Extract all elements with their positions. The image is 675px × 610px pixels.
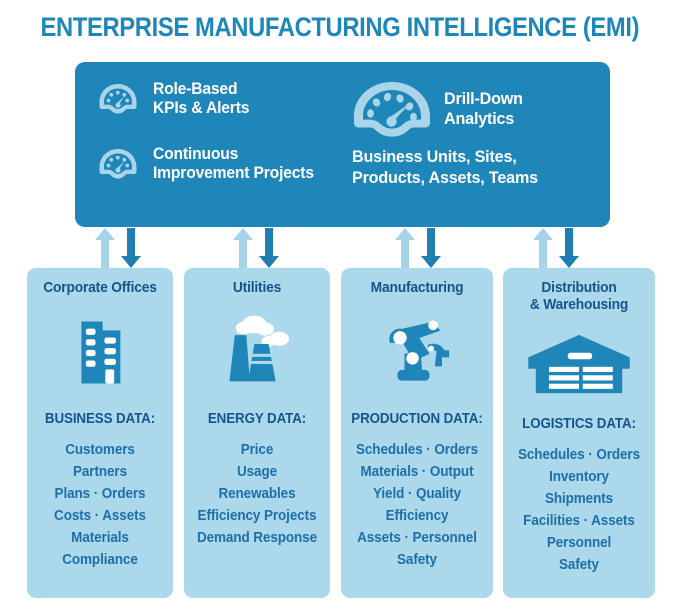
card-title: Distribution & Warehousing: [509, 280, 649, 314]
list-item: Demand Response: [189, 527, 325, 549]
gauge-icon: [97, 81, 139, 117]
scope-line-1: Business Units, Sites,: [352, 147, 517, 166]
emi-capabilities-panel: Role-Based KPIs & Alerts Continuous: [75, 62, 610, 227]
drill-down-label: Drill-Down Analytics: [444, 89, 523, 129]
list-item: Price: [189, 439, 325, 461]
warehouse-icon: [503, 328, 655, 400]
card-data-list: Price Usage Renewables Efficiency Projec…: [184, 439, 330, 549]
scope-line-2: Products, Assets, Teams: [352, 168, 538, 187]
card-data-list: Schedules · Orders Materials · Output Yi…: [341, 439, 493, 571]
list-item: Safety: [508, 554, 649, 576]
gauge-icon: [350, 78, 434, 140]
robot-arm-icon: [341, 303, 493, 395]
arrow-pair-utilities: [232, 228, 284, 268]
list-item: Partners: [32, 461, 168, 483]
card-data-label: LOGISTICS DATA:: [509, 416, 649, 432]
card-title-line-1: Manufacturing: [371, 279, 464, 296]
power-plant-icon: [184, 303, 330, 395]
card-corporate-offices[interactable]: Corporate Offices BUSINESS DATA: Custome…: [27, 268, 173, 598]
feature-line-2: KPIs & Alerts: [153, 99, 249, 117]
list-item: Customers: [32, 439, 168, 461]
arrow-pair-manufacturing: [394, 228, 446, 268]
card-data-list: Schedules · Orders Inventory Shipments F…: [503, 444, 655, 576]
analytics-scope-label: Business Units, Sites, Products, Assets,…: [352, 146, 586, 189]
list-item: Schedules · Orders: [346, 439, 487, 461]
panel-left-column: Role-Based KPIs & Alerts Continuous: [97, 80, 352, 204]
list-item: Plans · Orders: [32, 483, 168, 505]
feature-drill-down-analytics: Drill-Down Analytics: [350, 78, 598, 140]
panel-right-column: Drill-Down Analytics Business Units, Sit…: [350, 78, 598, 189]
arrow-down-icon: [258, 228, 280, 268]
page-title: ENTERPRISE MANUFACTURING INTELLIGENCE (E…: [41, 12, 635, 43]
list-item: Inventory: [508, 466, 649, 488]
list-item: Compliance: [32, 549, 168, 571]
card-data-label: PRODUCTION DATA:: [347, 411, 487, 427]
arrow-down-icon: [120, 228, 142, 268]
card-data-list: Customers Partners Plans · Orders Costs …: [27, 439, 173, 571]
office-building-icon: [27, 303, 173, 395]
feature-line-1: Role-Based: [153, 80, 237, 98]
card-data-label: BUSINESS DATA:: [33, 411, 167, 427]
card-title: Manufacturing: [347, 280, 487, 297]
list-item: Assets · Personnel: [346, 527, 487, 549]
drill-down-line-2: Analytics: [444, 109, 514, 128]
list-item: Personnel: [508, 532, 649, 554]
feature-continuous-improvement: Continuous Improvement Projects: [97, 145, 352, 184]
feature-label: Continuous Improvement Projects: [153, 145, 314, 184]
arrow-up-icon: [394, 228, 416, 268]
list-item: Materials: [32, 527, 168, 549]
arrow-down-icon: [420, 228, 442, 268]
feature-role-based-kpis: Role-Based KPIs & Alerts: [97, 80, 352, 119]
feature-line-1: Continuous: [153, 145, 238, 163]
list-item: Yield · Quality: [346, 483, 487, 505]
arrow-up-icon: [532, 228, 554, 268]
arrow-down-icon: [558, 228, 580, 268]
card-title: Utilities: [190, 280, 324, 297]
list-item: Usage: [189, 461, 325, 483]
list-item: Efficiency Projects: [189, 505, 325, 527]
card-utilities[interactable]: Utilities ENERGY DATA: Price Usage Renew…: [184, 268, 330, 598]
gauge-icon: [97, 146, 139, 182]
list-item: Schedules · Orders: [508, 444, 649, 466]
arrow-up-icon: [232, 228, 254, 268]
drill-down-line-1: Drill-Down: [444, 89, 523, 108]
card-title: Corporate Offices: [33, 280, 167, 297]
list-item: Renewables: [189, 483, 325, 505]
card-manufacturing[interactable]: Manufacturing PRODUCTION DATA: Schedules…: [341, 268, 493, 598]
card-distribution-warehousing[interactable]: Distribution & Warehousing LOGISTICS DAT…: [503, 268, 655, 598]
card-title-line-1: Utilities: [233, 279, 281, 296]
card-data-label: ENERGY DATA:: [190, 411, 324, 427]
list-item: Materials · Output: [346, 461, 487, 483]
list-item: Safety: [346, 549, 487, 571]
arrow-up-icon: [94, 228, 116, 268]
arrow-pair-corporate-offices: [94, 228, 146, 268]
card-title-line-1: Distribution: [541, 279, 616, 296]
card-title-line-2: & Warehousing: [530, 296, 628, 313]
feature-line-2: Improvement Projects: [153, 164, 314, 182]
card-title-line-1: Corporate Offices: [43, 279, 156, 296]
list-item: Costs · Assets: [32, 505, 168, 527]
arrow-pair-distribution: [532, 228, 584, 268]
feature-label: Role-Based KPIs & Alerts: [153, 80, 249, 119]
list-item: Efficiency: [346, 505, 487, 527]
list-item: Shipments: [508, 488, 649, 510]
list-item: Facilities · Assets: [508, 510, 649, 532]
